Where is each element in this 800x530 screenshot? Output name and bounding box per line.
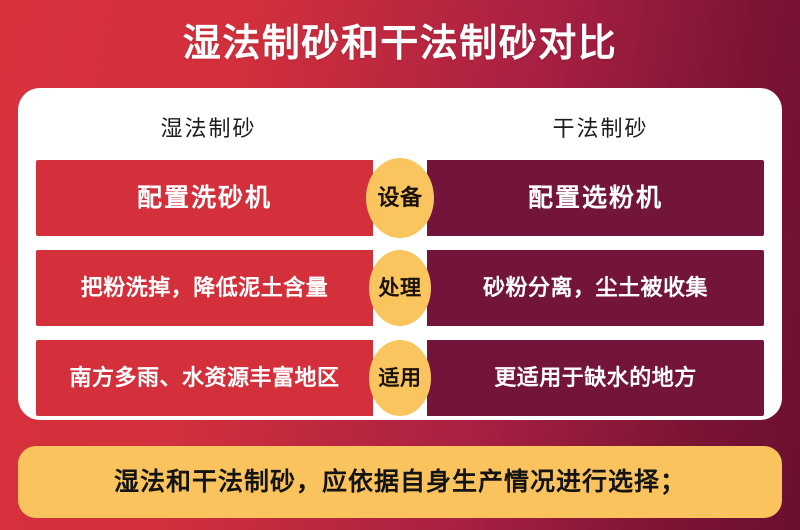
wet-method-cell: 南方多雨、水资源丰富地区 [36,340,373,416]
comparison-rows: 配置洗砂机 配置选粉机 设备 把粉洗掉，降低泥土含量 砂粉分离，尘土被收集 [36,160,764,416]
wet-method-cell: 把粉洗掉，降低泥土含量 [36,250,373,326]
dry-method-text: 更适用于缺水的地方 [494,367,697,389]
column-header-row: 湿法制砂 干法制砂 [36,102,764,152]
dry-method-cell: 更适用于缺水的地方 [427,340,764,416]
aspect-badge: 设备 [366,158,434,238]
aspect-badge: 处理 [369,250,431,326]
aspect-badge-label: 处理 [379,278,422,299]
dry-method-cell: 配置选粉机 [427,160,764,236]
dry-method-text: 砂粉分离，尘土被收集 [483,277,708,299]
aspect-badge-label: 设备 [377,187,422,209]
title-bar: 湿法制砂和干法制砂对比 [0,0,800,88]
conclusion-banner: 湿法和干法制砂，应依据自身生产情况进行选择； [18,446,782,518]
page-title: 湿法制砂和干法制砂对比 [183,25,618,63]
wet-method-text: 把粉洗掉，降低泥土含量 [81,277,329,299]
column-header-dry: 干法制砂 [437,111,764,143]
comparison-row: 配置洗砂机 配置选粉机 设备 [36,160,764,236]
comparison-row: 把粉洗掉，降低泥土含量 砂粉分离，尘土被收集 处理 [36,250,764,326]
wet-method-text: 南方多雨、水资源丰富地区 [69,367,339,389]
conclusion-text: 湿法和干法制砂，应依据自身生产情况进行选择； [114,470,686,495]
wet-method-cell: 配置洗砂机 [36,160,373,236]
column-header-wet: 湿法制砂 [36,111,381,143]
aspect-badge: 适用 [369,340,431,416]
wet-method-text: 配置洗砂机 [137,186,272,211]
comparison-row: 南方多雨、水资源丰富地区 更适用于缺水的地方 适用 [36,340,764,416]
aspect-badge-label: 适用 [379,368,422,389]
infographic-root: 湿法制砂和干法制砂对比 湿法制砂 干法制砂 配置洗砂机 配置选粉机 设备 [0,0,800,530]
dry-method-text: 配置选粉机 [528,186,663,211]
comparison-card: 湿法制砂 干法制砂 配置洗砂机 配置选粉机 设备 [18,88,782,420]
dry-method-cell: 砂粉分离，尘土被收集 [427,250,764,326]
